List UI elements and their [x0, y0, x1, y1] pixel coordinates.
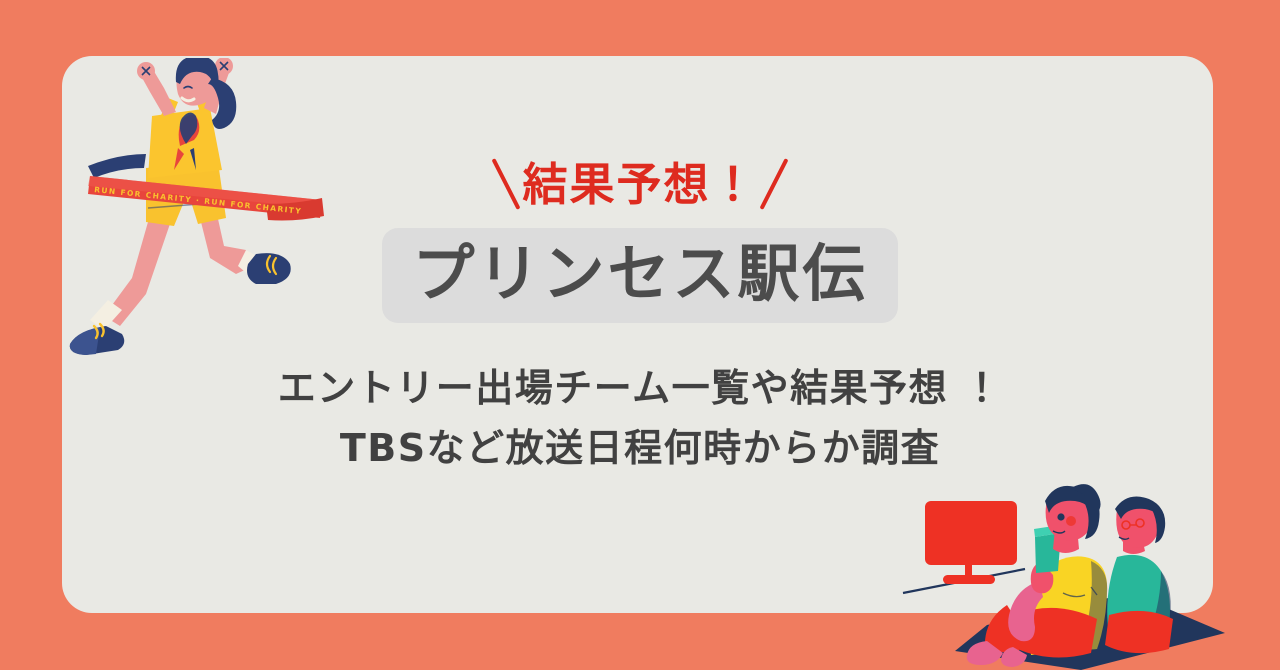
- poster-canvas: RUN FOR CHARITY · RUN FOR CHARITY: [0, 0, 1280, 670]
- runner-illustration: RUN FOR CHARITY · RUN FOR CHARITY: [60, 58, 330, 358]
- tv-watchers-illustration: [895, 465, 1235, 670]
